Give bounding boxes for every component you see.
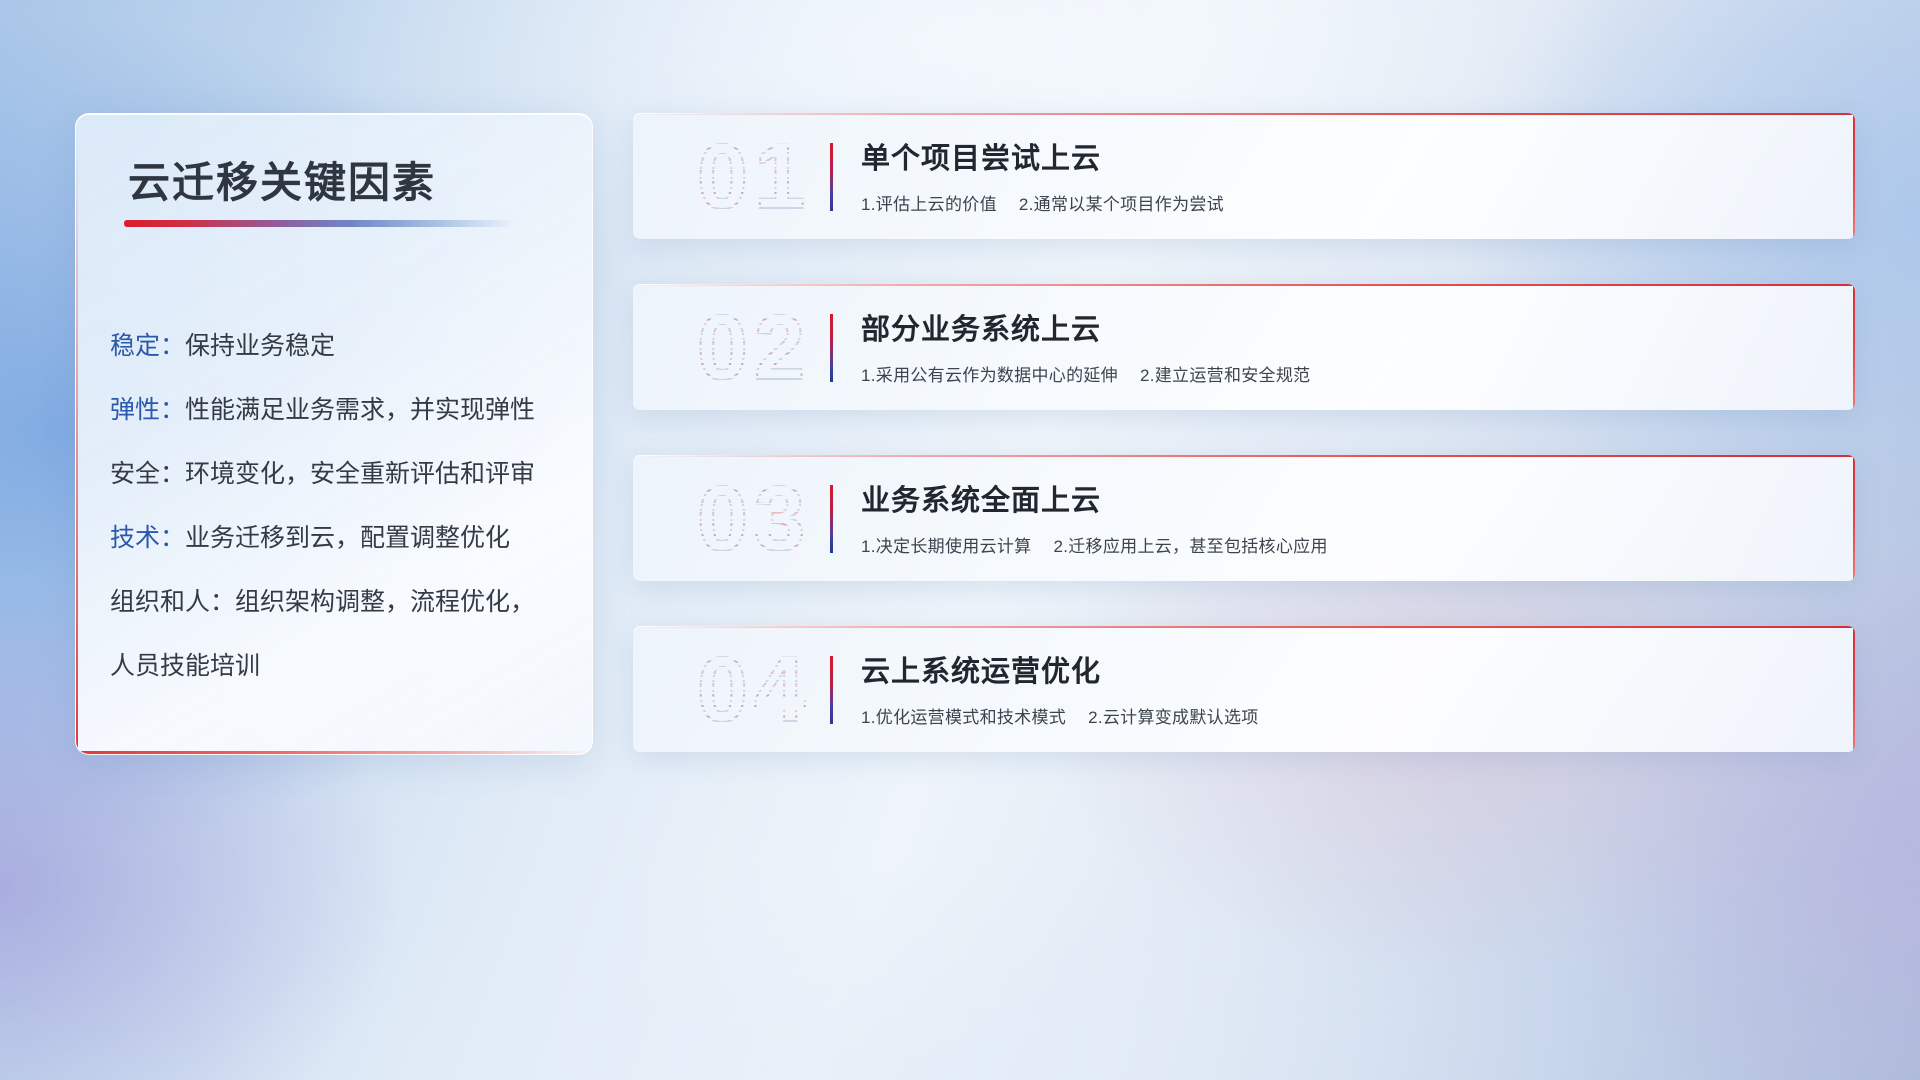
- stage-description-part-2: 2.云计算变成默认选项: [1088, 708, 1258, 727]
- key-factors-panel: 云迁移关键因素 稳定：保持业务稳定弹性：性能满足业务需求，并实现弹性安全：环境变…: [75, 113, 593, 755]
- stage-number-ghost-tint: 04: [659, 630, 849, 750]
- stage-number-ghost-tint: 01: [659, 117, 849, 237]
- page-title: 云迁移关键因素: [128, 149, 436, 210]
- factor-list: 稳定：保持业务稳定弹性：性能满足业务需求，并实现弹性安全：环境变化，安全重新评估…: [110, 314, 572, 698]
- stage-description-part-1: 1.评估上云的价值: [861, 195, 997, 214]
- title-underline-rule: [124, 220, 514, 227]
- factor-value: 人员技能培训: [110, 652, 260, 680]
- factor-value: 组织架构调整，流程优化，: [235, 588, 535, 616]
- stage-description-part-1: 1.优化运营模式和技术模式: [861, 708, 1066, 727]
- stage-card[interactable]: 0404云上系统运营优化1.优化运营模式和技术模式2.云计算变成默认选项: [633, 626, 1855, 752]
- stage-description-part-2: 2.迁移应用上云，甚至包括核心应用: [1053, 537, 1327, 556]
- factor-row: 组织和人：组织架构调整，流程优化，: [110, 570, 572, 634]
- stage-title: 单个项目尝试上云: [861, 135, 1831, 177]
- migration-stages-list: 0101单个项目尝试上云1.评估上云的价值2.通常以某个项目作为尝试0202部分…: [633, 113, 1855, 797]
- stage-description-part-2: 2.通常以某个项目作为尝试: [1019, 195, 1224, 214]
- stage-text-block: 云上系统运营优化1.优化运营模式和技术模式2.云计算变成默认选项: [861, 648, 1831, 728]
- stage-divider-bar: [830, 143, 833, 211]
- factor-label: 技术：: [110, 524, 185, 552]
- stage-title: 云上系统运营优化: [861, 648, 1831, 690]
- factor-row: 人员技能培训: [110, 634, 572, 698]
- stage-description-part-2: 2.建立运营和安全规范: [1140, 366, 1310, 385]
- stage-divider-bar: [830, 485, 833, 553]
- stage-number-ghost-tint: 03: [659, 459, 849, 579]
- stage-description: 1.决定长期使用云计算2.迁移应用上云，甚至包括核心应用: [861, 532, 1831, 557]
- factor-value: 环境变化，安全重新评估和评审: [185, 460, 535, 488]
- factor-value: 保持业务稳定: [185, 332, 335, 360]
- factor-label: 稳定：: [110, 332, 185, 360]
- stage-description: 1.采用公有云作为数据中心的延伸2.建立运营和安全规范: [861, 361, 1831, 386]
- factor-row: 安全：环境变化，安全重新评估和评审: [110, 442, 572, 506]
- stage-number-ghost-tint: 02: [659, 288, 849, 408]
- factor-row: 弹性：性能满足业务需求，并实现弹性: [110, 378, 572, 442]
- factor-label: 组织和人：: [110, 588, 235, 616]
- stage-card[interactable]: 0202部分业务系统上云1.采用公有云作为数据中心的延伸2.建立运营和安全规范: [633, 284, 1855, 410]
- stage-text-block: 部分业务系统上云1.采用公有云作为数据中心的延伸2.建立运营和安全规范: [861, 306, 1831, 386]
- stage-card[interactable]: 0303业务系统全面上云1.决定长期使用云计算2.迁移应用上云，甚至包括核心应用: [633, 455, 1855, 581]
- factor-value: 性能满足业务需求，并实现弹性: [185, 396, 535, 424]
- factor-value: 业务迁移到云，配置调整优化: [185, 524, 510, 552]
- factor-row: 稳定：保持业务稳定: [110, 314, 572, 378]
- stage-description-part-1: 1.采用公有云作为数据中心的延伸: [861, 366, 1118, 385]
- stage-divider-bar: [830, 656, 833, 724]
- stage-title: 部分业务系统上云: [861, 306, 1831, 348]
- stage-description: 1.优化运营模式和技术模式2.云计算变成默认选项: [861, 703, 1831, 728]
- stage-card[interactable]: 0101单个项目尝试上云1.评估上云的价值2.通常以某个项目作为尝试: [633, 113, 1855, 239]
- stage-text-block: 业务系统全面上云1.决定长期使用云计算2.迁移应用上云，甚至包括核心应用: [861, 477, 1831, 557]
- stage-text-block: 单个项目尝试上云1.评估上云的价值2.通常以某个项目作为尝试: [861, 135, 1831, 215]
- factor-label: 安全：: [110, 460, 185, 488]
- factor-row: 技术：业务迁移到云，配置调整优化: [110, 506, 572, 570]
- stage-title: 业务系统全面上云: [861, 477, 1831, 519]
- stage-description-part-1: 1.决定长期使用云计算: [861, 537, 1031, 556]
- stage-divider-bar: [830, 314, 833, 382]
- stage-description: 1.评估上云的价值2.通常以某个项目作为尝试: [861, 190, 1831, 215]
- factor-label: 弹性：: [110, 396, 185, 424]
